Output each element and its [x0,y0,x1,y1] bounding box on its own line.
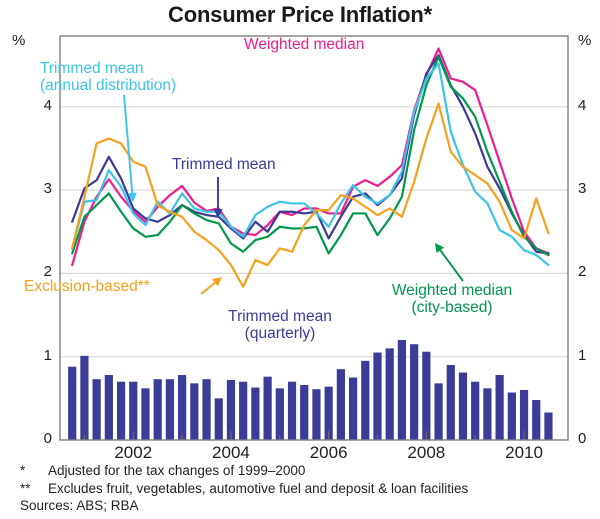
bar-quarterly [312,389,320,440]
y-tick-label-right: 4 [578,97,586,114]
annotation-line2: (quarterly) [200,325,360,342]
annotation-line2: (annual distribution) [40,77,176,94]
x-tick-label: 2008 [386,443,466,463]
x-tick-label: 2004 [191,443,271,463]
bar-quarterly [349,378,357,440]
sources-text: Sources: ABS; RBA [20,498,139,513]
x-tick-label: 2006 [289,443,369,463]
bar-quarterly [215,398,223,440]
bar-quarterly [251,388,259,440]
annotation-line2: (city-based) [372,299,532,316]
bar-quarterly [434,383,442,440]
annotation-line1: Weighted median [244,36,364,53]
x-tick-label: 2010 [484,443,564,463]
footnote-text: Adjusted for the tax changes of 1999–200… [48,463,305,478]
annotation-trimmed-mean-quarterly: Trimmed mean(quarterly) [200,308,360,342]
bar-quarterly [178,375,186,440]
bar-quarterly [154,379,162,440]
y-tick-label-right: 1 [578,347,586,364]
annotation-line1: Trimmed mean [172,156,276,173]
bar-quarterly [93,379,101,440]
annotation-line1: Trimmed mean [40,60,176,77]
footnotes: *Adjusted for the tax changes of 1999–20… [20,462,468,515]
bar-quarterly [190,383,198,440]
annotation-exclusion-based: Exclusion-based** [24,278,150,295]
bar-quarterly [398,340,406,440]
bar-quarterly [288,382,296,440]
bar-quarterly [105,375,113,440]
bar-quarterly [68,367,76,440]
bar-quarterly [373,353,381,440]
bar-quarterly [300,385,308,440]
annotation-trimmed-mean: Trimmed mean [172,156,276,173]
annotation-weighted-median-city: Weighted median(city-based) [372,282,532,316]
bar-quarterly [80,356,88,440]
bar-quarterly [202,379,210,440]
x-tick-label: 2002 [93,443,173,463]
chart-root: Consumer Price Inflation* % % 4433221100… [0,0,600,519]
bar-quarterly [447,365,455,440]
bar-quarterly [239,382,247,440]
bar-quarterly [508,393,516,440]
annotation-trimmed-mean-annual: Trimmed mean(annual distribution) [40,60,176,94]
bar-quarterly [276,388,284,440]
y-tick-label-right: 3 [578,180,586,197]
sources-row: Sources: ABS; RBA [20,497,468,515]
bar-quarterly [483,388,491,440]
bar-quarterly [544,413,552,440]
bar-quarterly [117,382,125,440]
bar-quarterly [471,382,479,440]
footnote-mark: ** [20,480,48,498]
footnote-text: Excludes fruit, vegetables, automotive f… [48,481,468,496]
bar-quarterly [532,400,540,440]
plot-background [60,36,568,440]
y-tick-label-left: 1 [20,347,52,364]
annotation-weighted-median: Weighted median [244,36,364,53]
annotation-line1: Weighted median [372,282,532,299]
footnote-mark: * [20,462,48,480]
bar-quarterly [166,379,174,440]
y-tick-label-left: 4 [20,97,52,114]
footnote-row: *Adjusted for the tax changes of 1999–20… [20,462,468,480]
bar-quarterly [337,369,345,440]
y-tick-label-left: 3 [20,180,52,197]
bar-quarterly [264,377,272,440]
y-tick-label-right: 2 [578,263,586,280]
y-tick-label-right: 0 [578,430,586,447]
bar-quarterly [410,344,418,440]
y-tick-label-left: 0 [20,430,52,447]
bar-quarterly [361,361,369,440]
bar-quarterly [386,348,394,440]
bar-quarterly [141,388,149,440]
annotation-line1: Exclusion-based** [24,278,150,295]
footnote-row: **Excludes fruit, vegetables, automotive… [20,480,468,498]
bar-quarterly [422,352,430,440]
bar-quarterly [459,373,467,440]
bar-quarterly [496,375,504,440]
annotation-line1: Trimmed mean [200,308,360,325]
